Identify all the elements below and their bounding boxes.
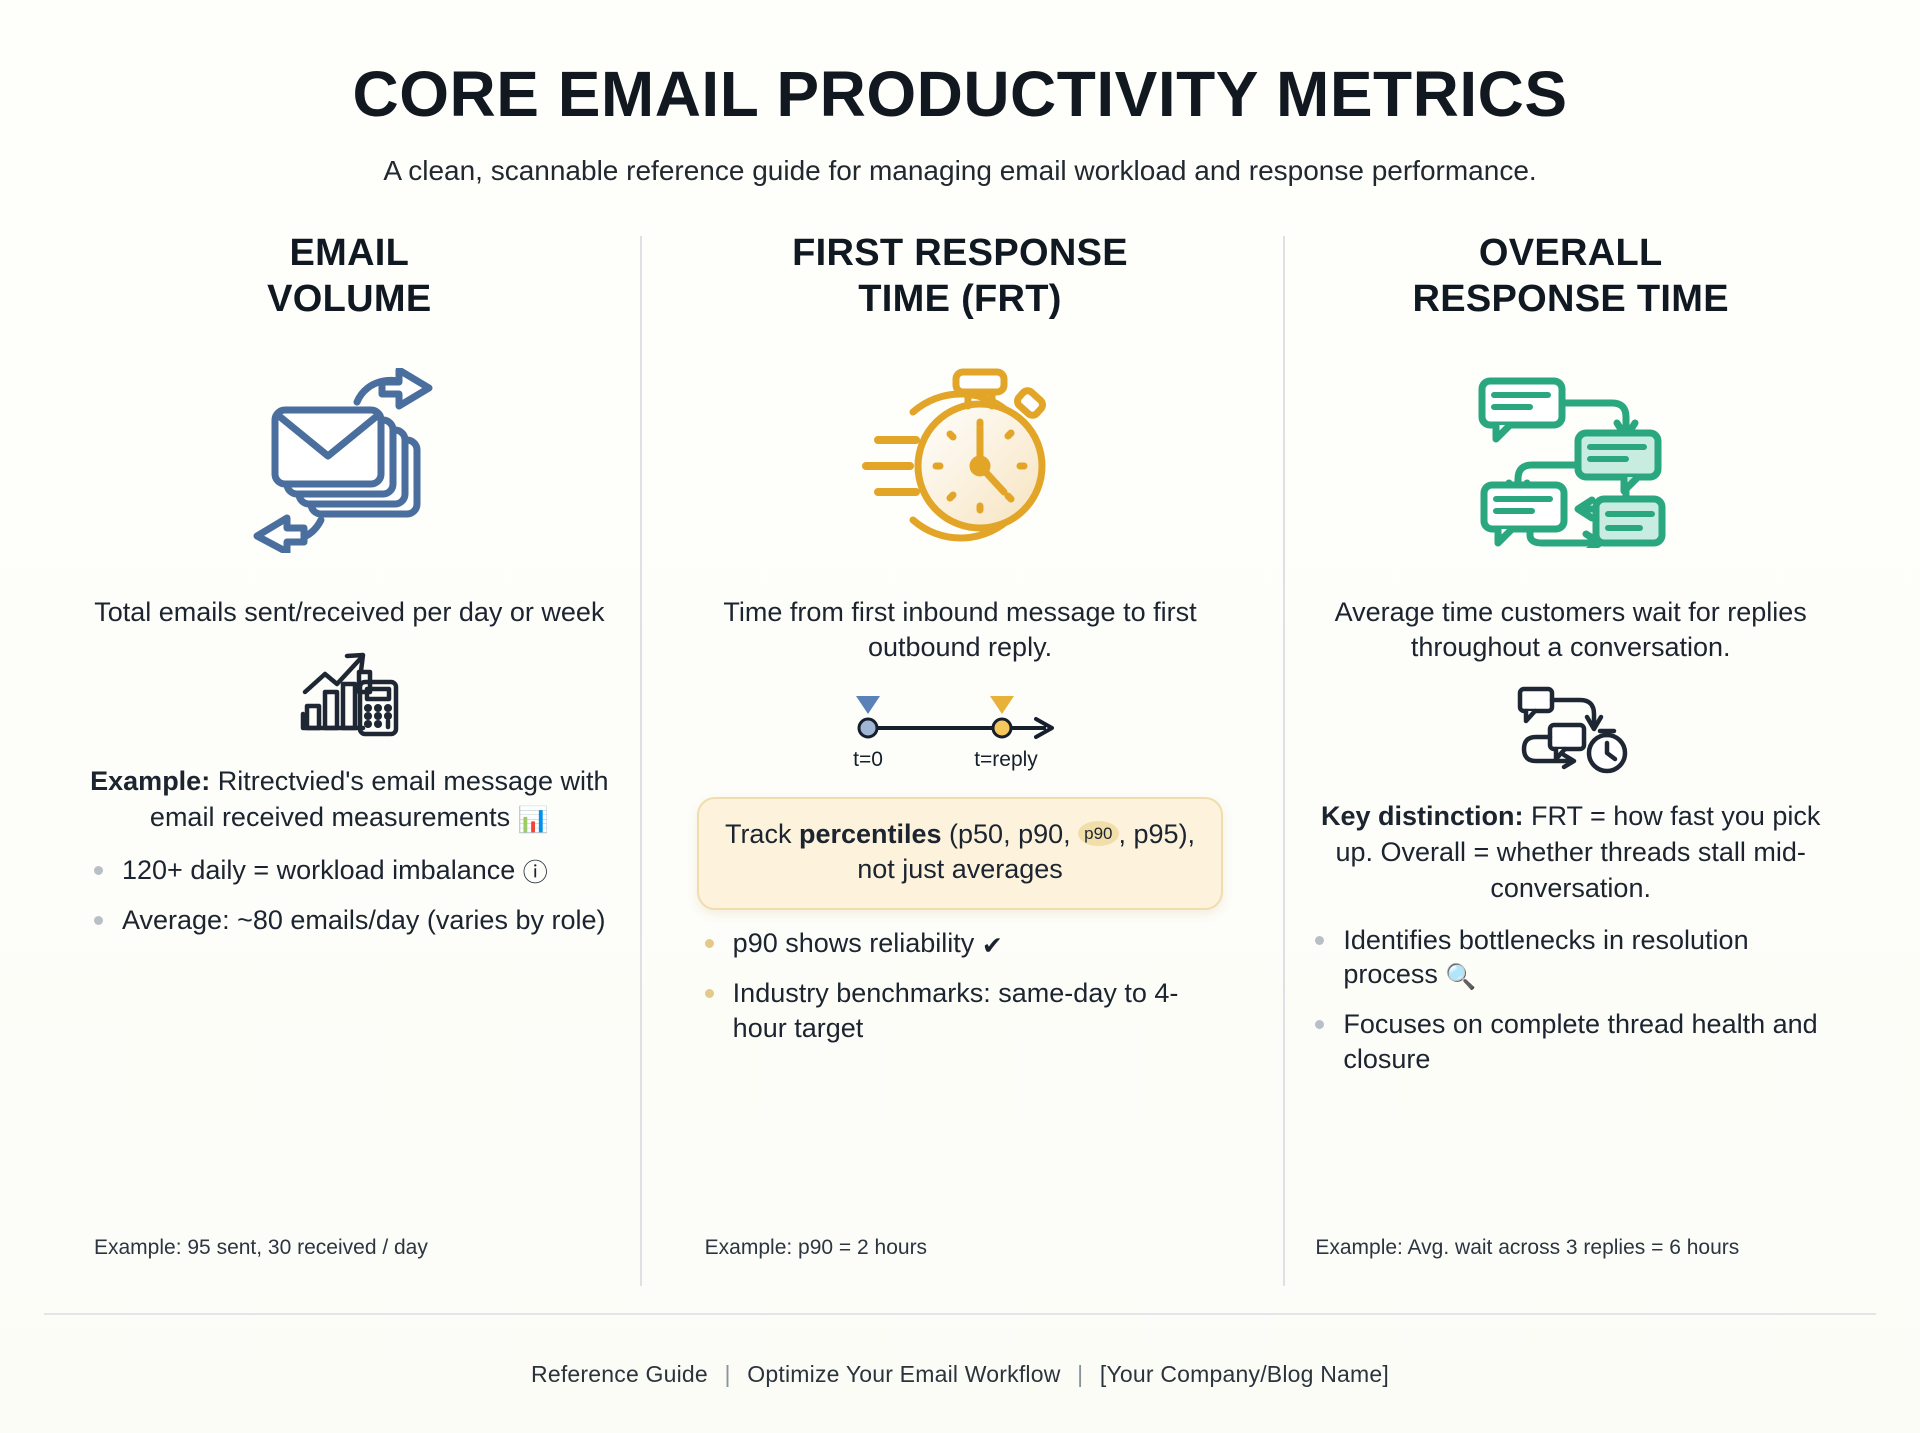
metric-title-line2: RESPONSE TIME bbox=[1412, 278, 1728, 320]
callout-prefix: Track bbox=[725, 819, 799, 849]
check-mark-icon: ✔ bbox=[982, 932, 1003, 960]
metric-title-line2: VOLUME bbox=[267, 278, 431, 320]
bullet-text: 120+ daily = workload imbalance bbox=[122, 855, 515, 885]
metric-title-line2: TIME (FRT) bbox=[858, 278, 1062, 320]
metric-bullets-first-response-time: p90 shows reliability ✔ Industry benchma… bbox=[685, 926, 1236, 1059]
infographic-page: CORE EMAIL PRODUCTIVITY METRICS A clean,… bbox=[0, 0, 1920, 1433]
page-footer: Reference Guide | Optimize Your Email Wo… bbox=[44, 1313, 1876, 1433]
footer-item-2: Optimize Your Email Workflow bbox=[747, 1361, 1060, 1387]
list-item: Focuses on complete thread health and cl… bbox=[1309, 1007, 1842, 1076]
list-item: p90 shows reliability ✔ bbox=[699, 926, 1232, 962]
p90-badge: p90 bbox=[1078, 821, 1118, 846]
metric-title-email-volume: EMAIL VOLUME bbox=[74, 230, 625, 334]
metric-bullets-email-volume: 120+ daily = workload imbalance ⓘ Averag… bbox=[74, 853, 625, 952]
page-header: CORE EMAIL PRODUCTIVITY METRICS A clean,… bbox=[0, 0, 1920, 188]
footer-separator: | bbox=[1067, 1361, 1093, 1387]
metric-definition-email-volume: Total emails sent/received per day or we… bbox=[74, 595, 625, 630]
footer-item-3: [Your Company/Blog Name] bbox=[1100, 1361, 1389, 1387]
metric-title-overall-response-time: OVERALL RESPONSE TIME bbox=[1295, 230, 1846, 334]
metric-example-email-volume: Example: 95 sent, 30 received / day bbox=[74, 1236, 625, 1260]
footer-item-1: Reference Guide bbox=[531, 1361, 708, 1387]
timeline-start-label: t=0 bbox=[853, 748, 883, 771]
metric-card-overall-response-time: OVERALL RESPONSE TIME bbox=[1265, 230, 1876, 1260]
chat-bubble-flow-icon bbox=[1295, 348, 1846, 573]
timeline-end-label: t=reply bbox=[974, 748, 1038, 771]
percentiles-callout: Track percentiles (p50, p90, p90, p95), … bbox=[697, 797, 1224, 910]
metric-title-line1: FIRST RESPONSE bbox=[792, 232, 1128, 274]
spacer bbox=[74, 951, 625, 1223]
bullet-text: Identifies bottlenecks in resolution pro… bbox=[1343, 925, 1748, 990]
envelopes-exchange-icon bbox=[74, 348, 625, 573]
list-item: Average: ~80 emails/day (varies by role) bbox=[88, 903, 621, 938]
footer-text: Reference Guide | Optimize Your Email Wo… bbox=[531, 1361, 1389, 1388]
metric-card-email-volume: EMAIL VOLUME T bbox=[44, 230, 655, 1260]
metric-note-overall-response-time: Key distinction: FRT = how fast you pick… bbox=[1295, 799, 1846, 907]
list-item: 120+ daily = workload imbalance ⓘ bbox=[88, 853, 621, 889]
metric-title-line1: OVERALL bbox=[1479, 232, 1663, 274]
metric-note-label: Example: bbox=[90, 766, 210, 796]
callout-bold: percentiles bbox=[799, 819, 942, 849]
bullet-text: Average: ~80 emails/day (varies by role) bbox=[122, 905, 605, 935]
spacer bbox=[685, 1059, 1236, 1223]
spacer bbox=[1295, 1090, 1846, 1223]
bar-chart-emoji: 📊 bbox=[518, 806, 549, 834]
conversation-clock-icon bbox=[1295, 681, 1846, 777]
metric-note-label: Key distinction: bbox=[1321, 801, 1524, 831]
list-item: Identifies bottlenecks in resolution pro… bbox=[1309, 923, 1842, 994]
metric-definition-overall-response-time: Average time customers wait for replies … bbox=[1295, 595, 1846, 665]
metric-title-line1: EMAIL bbox=[289, 232, 409, 274]
frt-timeline-diagram: t=0 t=reply bbox=[685, 683, 1236, 779]
magnifier-icon: 🔍 bbox=[1445, 963, 1476, 991]
metric-example-first-response-time: Example: p90 = 2 hours bbox=[685, 1236, 1236, 1260]
metric-note-email-volume: Example: Ritrectvied's email message wit… bbox=[74, 764, 625, 837]
bullet-text: Focuses on complete thread health and cl… bbox=[1343, 1009, 1817, 1074]
callout-mid: (p50, p90, bbox=[942, 819, 1079, 849]
bullet-text: Industry benchmarks: same-day to 4-hour … bbox=[733, 978, 1179, 1043]
footer-separator: | bbox=[715, 1361, 741, 1387]
list-item: Industry benchmarks: same-day to 4-hour … bbox=[699, 976, 1232, 1045]
bar-chart-calculator-icon bbox=[74, 646, 625, 742]
metric-title-first-response-time: FIRST RESPONSE TIME (FRT) bbox=[685, 230, 1236, 334]
stopwatch-icon bbox=[685, 348, 1236, 573]
metric-card-first-response-time: FIRST RESPONSE TIME (FRT) bbox=[655, 230, 1266, 1260]
metric-bullets-overall-response-time: Identifies bottlenecks in resolution pro… bbox=[1295, 923, 1846, 1091]
metric-definition-first-response-time: Time from first inbound message to first… bbox=[685, 595, 1236, 665]
page-title: CORE EMAIL PRODUCTIVITY METRICS bbox=[0, 62, 1920, 126]
metrics-columns: EMAIL VOLUME T bbox=[0, 230, 1920, 1260]
bullet-text: p90 shows reliability bbox=[733, 928, 975, 958]
page-subtitle: A clean, scannable reference guide for m… bbox=[0, 154, 1920, 188]
warning-circle-icon: ⓘ bbox=[523, 859, 548, 887]
metric-example-overall-response-time: Example: Avg. wait across 3 replies = 6 … bbox=[1295, 1236, 1846, 1260]
